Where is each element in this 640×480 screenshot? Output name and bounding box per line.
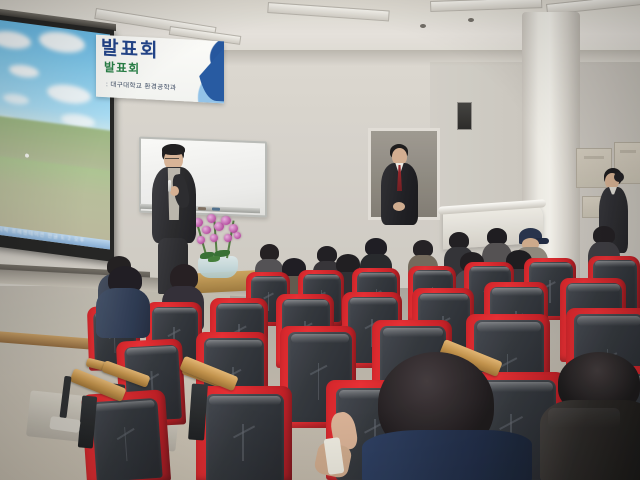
foreground-knit-sweater bbox=[362, 430, 532, 480]
glasses-icon bbox=[165, 158, 179, 163]
projected-image bbox=[0, 19, 110, 249]
standing-attendee-bun bbox=[614, 172, 624, 182]
ceiling-sensor bbox=[420, 24, 426, 28]
panel-slot bbox=[620, 150, 636, 153]
whiteboard-marker bbox=[212, 207, 220, 210]
presenter-hair-top bbox=[162, 144, 185, 155]
foreground-attendee-leather-jacket bbox=[540, 356, 640, 480]
suited-attendee bbox=[379, 144, 419, 240]
wall-speaker bbox=[457, 102, 472, 130]
foreground-attendee-knit-sweater bbox=[356, 352, 546, 480]
banner-title: 발표회 bbox=[101, 39, 159, 61]
photo-scene: 시작 프레젠테이션 한글 E 2 오후 발표회 발표회 : 대구대학교 환경공학… bbox=[0, 0, 640, 480]
suited-attendee-hands bbox=[393, 202, 405, 211]
microphone bbox=[168, 180, 171, 192]
jacket-highlight bbox=[548, 408, 620, 428]
banner-subtitle: 발표회 bbox=[104, 61, 140, 75]
presenter-hand bbox=[170, 186, 179, 196]
panel-slot bbox=[584, 156, 604, 159]
navy-jacket bbox=[96, 288, 150, 338]
event-banner: 발표회 발표회 : 대구대학교 환경공학과 bbox=[96, 35, 224, 104]
ceiling-sensor bbox=[468, 18, 474, 22]
foreground-attendee-left bbox=[96, 266, 150, 336]
